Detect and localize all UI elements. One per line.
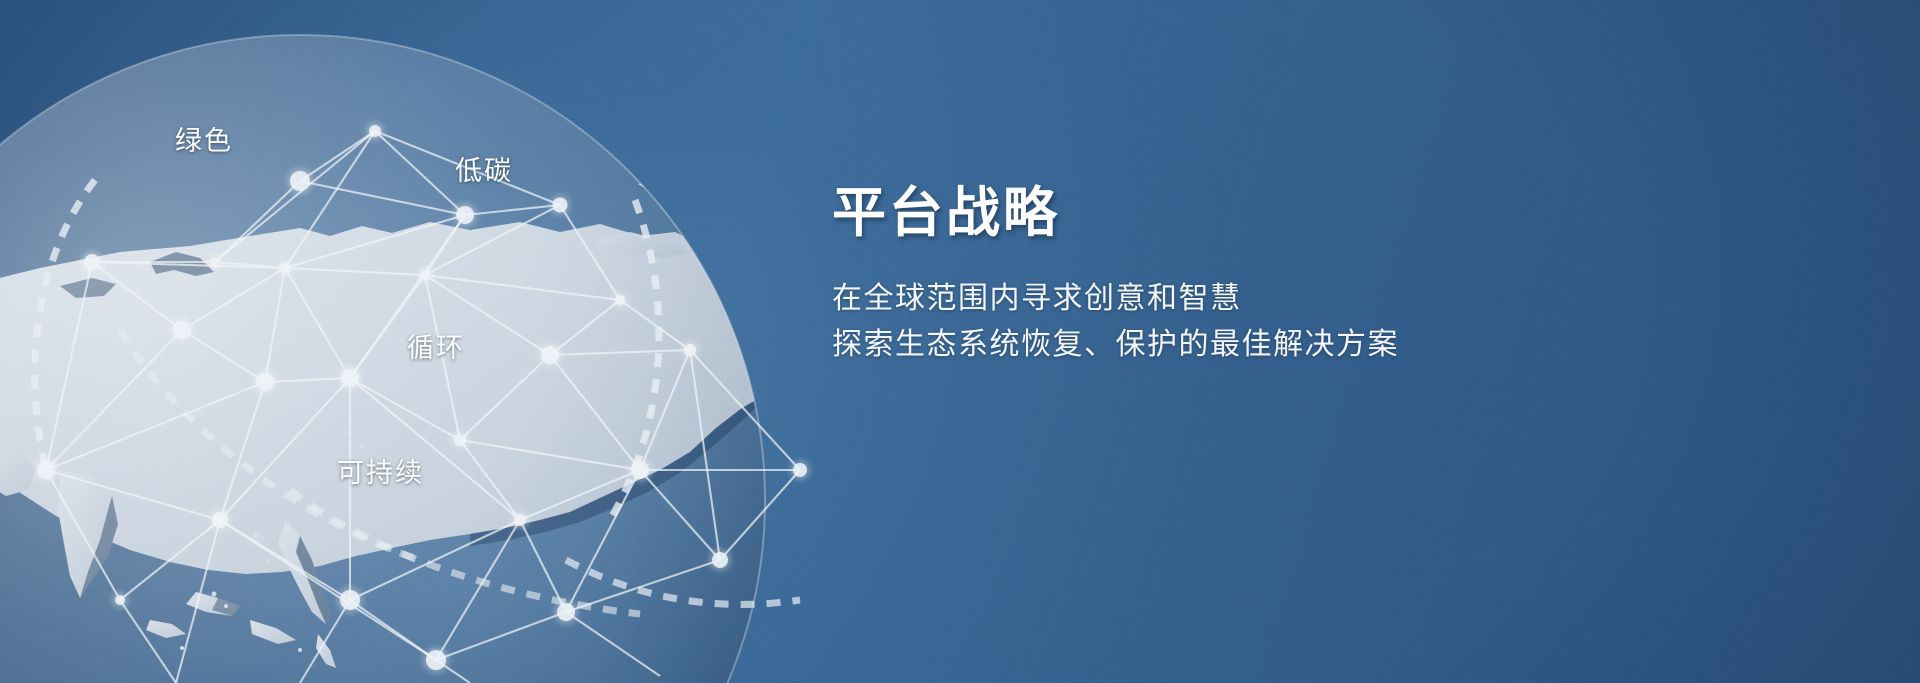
- hero-banner: 绿色 低碳 循环 可持续 平台战略 在全球范围内寻求创意和智慧 探索生态系统恢复…: [0, 0, 1920, 683]
- hero-subtitle-line-1: 在全球范围内寻求创意和智慧: [832, 276, 1532, 322]
- globe-label-green: 绿色: [175, 128, 233, 155]
- globe-label-sustainable: 可持续: [337, 460, 424, 487]
- hero-subtitle-line-2: 探索生态系统恢复、保护的最佳解决方案: [832, 322, 1532, 368]
- globe-label-low-carbon: 低碳: [455, 158, 513, 185]
- hero-copy-block: 平台战略 在全球范围内寻求创意和智慧 探索生态系统恢复、保护的最佳解决方案: [832, 184, 1532, 368]
- globe-label-circular: 循环: [407, 335, 465, 362]
- hero-headline: 平台战略: [832, 184, 1532, 242]
- globe-illustration: 绿色 低碳 循环 可持续: [0, 0, 900, 683]
